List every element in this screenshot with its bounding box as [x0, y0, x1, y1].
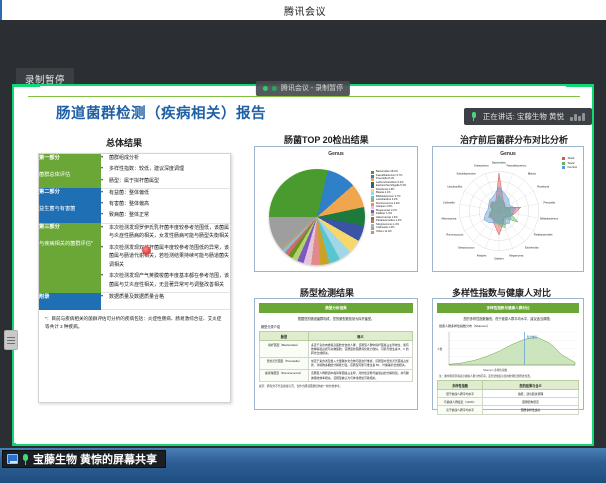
- shared-slide: 肠道菌群检测（疾病相关）报告 总体结果 肠菌TOP 20检出结果 治疗前后菌群分…: [16, 88, 592, 444]
- radar-axis-label: Eubacterium: [474, 164, 489, 167]
- y-axis-label: 人数: [437, 347, 442, 351]
- pie-chart-title: Genus: [255, 151, 417, 157]
- page-title: 肠道菌群检测（疾病相关）报告: [56, 102, 266, 123]
- frame-corner-top-left: [14, 84, 40, 87]
- column-header: 多样性指数: [438, 381, 483, 390]
- enterotype-note: 根据您的肠道菌群构成，您的肠型被检测为拟杆菌型。: [259, 313, 413, 324]
- radar-axis-label: Subdoligranulum: [456, 173, 475, 176]
- list-item: 本次检测发现双歧杆菌属丰度较参考范围低的异常，该菌属与肠道代谢相关，若检测结果持…: [101, 244, 230, 270]
- table-row: 高于健康人群平均水平菌群多样性良好: [438, 406, 579, 414]
- cell-enterotype: 普雷沃氏菌型（Prevotella）: [260, 357, 309, 369]
- radar-axis-label: Dialister: [494, 258, 503, 261]
- summary-bullets-cell: 有益菌：整体偏低有害菌：整体偏高致病菌：整体正常: [101, 188, 230, 223]
- active-speaker-label: 正在讲话: 宝藤生物 黄悦: [483, 111, 564, 122]
- list-item: 有益菌：整体偏低: [101, 189, 230, 198]
- list-item: 本次检测发现罗伊氏乳杆菌丰度较参考范围低，该菌属与炎症性肠病的相关，女发性肠病可…: [101, 224, 230, 242]
- cell-index: 高于健康人群平均水平: [438, 406, 483, 414]
- status-dot-icon: [263, 86, 268, 91]
- summary-section-cell: 第一部分菌群总体评估: [39, 154, 101, 188]
- cell-description: 该肠型人群肠道中瘤胃球菌属占主导，对抗性淀粉与黏蛋白的分解较强，并与糖类吸收效率…: [308, 369, 412, 381]
- summary-table: 第一部分菌群总体评估菌群组成分析多样性指数：较低，建议深度调理肠型：属于拟杆菌属…: [39, 154, 230, 310]
- diversity-note: 您的多样性指数偏低，低于健康人群平均水平，建议适当调理。: [437, 313, 579, 324]
- list-item: 本次检测发现产气荚膜梭菌丰度基本都在参考范围，该菌属与艾炎症性相关，无显著异常可…: [101, 272, 230, 290]
- legend-swatch: [371, 231, 374, 234]
- list-item: 致病菌：整体正常: [101, 211, 230, 220]
- section-number: 第二部分: [39, 188, 101, 198]
- section-number: 第一部分: [39, 154, 101, 164]
- summary-section-cell: 第二部分益生菌与有害菌: [39, 188, 101, 223]
- summary-footnote: *：目前与疾病相关的菌群评估可分析的疾病包括：炎症性肠病、肠易激综合征、艾炎症等…: [39, 310, 230, 337]
- taskbar-app-button[interactable]: 宝藤生物 黄悰的屏幕共享: [2, 450, 166, 468]
- audio-wave-icon: [570, 113, 585, 121]
- sharing-status-text: 腾讯会议 - 录制暂停: [281, 83, 343, 93]
- pie-chart-card: Genus Bacteroides 28.4%Faecalibacterium …: [254, 146, 418, 272]
- radar-axis-label: Faecalibacterium: [507, 164, 527, 167]
- radar-axis-label: Parabacteroides: [534, 234, 553, 237]
- cell-enterotype: 瘤胃球菌型（Ruminococcus）: [260, 369, 309, 381]
- summary-bullets-cell: 数据质量及数据质量合格: [101, 293, 230, 310]
- table-row: 普雷沃氏菌型（Prevotella）常见于素食者及摄入大量碳水化合物与膳食纤维者…: [260, 357, 413, 369]
- marker-label: 您的数值: [527, 335, 537, 339]
- radar-axis-label: Lactobacillus: [447, 186, 462, 189]
- enterotype-table-title: 肠型分类介绍: [259, 324, 413, 331]
- diversity-header: 多样性指数与健康人群对比: [437, 303, 579, 313]
- radar-axis-label: Bacteroides: [492, 162, 506, 165]
- list-item: 肠型：属于拟杆菌属型: [101, 177, 230, 186]
- taskbar-app-label: 宝藤生物 黄悰的屏幕共享: [33, 451, 157, 467]
- window-titlebar: 腾讯会议: [0, 0, 606, 20]
- summary-bullets-cell: 本次检测发现罗伊氏乳杆菌丰度较参考范围低，该菌属与炎症性肠病的相关，女发性肠病可…: [101, 223, 230, 293]
- screen-share-frame: 肠道菌群检测（疾病相关）报告 总体结果 肠菌TOP 20检出结果 治疗前后菌群分…: [12, 84, 594, 446]
- radar-axis-label: Blautia: [528, 173, 536, 176]
- cell-description: 常见于素食者及摄入大量碳水化合物与膳食纤维者，该肠型中普雷沃氏菌属占优势，对植物…: [308, 357, 412, 369]
- frame-corner-top-right: [566, 84, 592, 87]
- cell-index: 与健康人群接近（±10%）: [438, 398, 483, 406]
- table-row: 瘤胃球菌型（Ruminococcus）该肠型人群肠道中瘤胃球菌属占主导，对抗性淀…: [260, 369, 413, 381]
- microphone-icon: [471, 112, 477, 121]
- radar-axis-label: Roseburia: [537, 186, 549, 189]
- section-number: 第三部分: [39, 223, 101, 233]
- table-row: 附录数据质量及数据质量合格: [39, 293, 230, 310]
- enterotype-footer: 提示：肠型并不代表健康与否，仅作为肠道菌群结构的一种分类参考。: [259, 382, 413, 388]
- enterotype-header: 肠型分析结果: [259, 303, 413, 313]
- legend-label: Others 11.0%: [376, 231, 392, 234]
- table-row: 第三部分与疾病相关的菌群评估*本次检测发现罗伊氏乳杆菌丰度较参考范围低，该菌属与…: [39, 223, 230, 293]
- window-drag-handle[interactable]: [4, 330, 18, 350]
- summary-table-card: 第一部分菌群总体评估菌群组成分析多样性指数：较低，建议深度调理肠型：属于拟杆菌属…: [38, 153, 231, 403]
- enterotype-card: 肠型分析结果 根据您的肠道菌群构成，您的肠型被检测为拟杆菌型。 肠型分类介绍 肠…: [254, 298, 418, 410]
- radar-axis-label: Alistipes: [477, 255, 487, 258]
- diversity-card: 多样性指数与健康人群对比 您的多样性指数偏低，低于健康人群平均水平，建议适当调理…: [432, 298, 584, 410]
- column-header: 您的结果与含义: [483, 381, 579, 390]
- radar-axis-label: Megamonas: [509, 255, 523, 258]
- taskbar: 宝藤生物 黄悰的屏幕共享: [0, 448, 606, 483]
- pie-chart: [269, 169, 365, 265]
- caption-overall: 总体结果: [106, 136, 142, 149]
- cell-meaning: 菌群结构稳定: [483, 398, 579, 406]
- status-dot-secondary-icon: [272, 86, 277, 91]
- screen-share-icon: [7, 454, 18, 464]
- cell-index: 低于健康人群平均水平: [438, 390, 483, 398]
- list-item: 多样性指数：较低，建议深度调理: [101, 165, 230, 174]
- cell-meaning: 偏低，建议膳食调理: [483, 390, 579, 398]
- table-row: 第一部分菌群总体评估菌群组成分析多样性指数：较低，建议深度调理肠型：属于拟杆菌属…: [39, 154, 230, 188]
- cell-enterotype: 拟杆菌型（Bacteroides）: [260, 341, 309, 358]
- radar-axis-label: Collinsella: [443, 201, 455, 204]
- radar-chart: BacteroidesFaecalibacteriumBlautiaRosebu…: [433, 155, 585, 271]
- diversity-footnote: 注：图中阴影区域表示健康人群分布区间，蓝色竖线表示您的检测结果所处位置。: [437, 373, 579, 380]
- diversity-distribution-chart: 您的数值Shannon 多样性指数人数: [437, 329, 579, 373]
- column-header: 释义: [308, 332, 412, 341]
- radar-chart-card: Genus Test1Test2Control BacteroidesFaeca…: [432, 146, 584, 272]
- mouse-cursor-highlight: [142, 246, 151, 255]
- cell-description: 多见于喜食肉类和高脂肪饮食的人群，该肠型人群中拟杆菌属占主导地位，能有效降解蛋白…: [308, 341, 412, 358]
- pie-legend: Bacteroides 28.4%Faecalibacterium 9.7%Pr…: [371, 171, 406, 234]
- diversity-table: 多样性指数您的结果与含义 低于健康人群平均水平偏低，建议膳食调理与健康人群接近（…: [437, 380, 579, 415]
- legend-item: Others 11.0%: [371, 231, 406, 234]
- section-number: 附录: [39, 293, 101, 303]
- window-title: 腾讯会议: [2, 3, 606, 18]
- enterotype-table: 肠型释义 拟杆菌型（Bacteroides）多见于喜食肉类和高脂肪饮食的人群，该…: [259, 331, 413, 382]
- radar-axis-label: Bifidobacterium: [540, 218, 558, 221]
- list-item: 数据质量及数据质量合格: [101, 293, 230, 302]
- table-row: 与健康人群接近（±10%）菌群结构稳定: [438, 398, 579, 406]
- x-axis-label: Shannon 多样性指数: [483, 368, 507, 372]
- caption-top20: 肠菌TOP 20检出结果: [284, 133, 369, 146]
- column-header: 肠型: [260, 332, 309, 341]
- screen: 腾讯会议 录制暂停 腾讯会议 - 录制暂停 正在讲话: 宝藤生物 黄悦 肠道菌群…: [0, 0, 606, 483]
- title-divider: [28, 96, 580, 97]
- summary-section-cell: 附录: [39, 293, 101, 310]
- table-row: 第二部分益生菌与有害菌有益菌：整体偏低有害菌：整体偏高致病菌：整体正常: [39, 188, 230, 223]
- list-item: 有害菌：整体偏高: [101, 200, 230, 209]
- distribution-svg: [437, 329, 579, 373]
- radar-axis-label: Akkermansia: [441, 218, 456, 221]
- radar-axis-label: Streptococcus: [458, 246, 474, 249]
- radar-axis-label: Prevotella: [543, 201, 555, 204]
- table-row: 拟杆菌型（Bacteroides）多见于喜食肉类和高脂肪饮食的人群，该肠型人群中…: [260, 341, 413, 358]
- caption-compare: 治疗前后菌群分布对比分析: [460, 133, 568, 146]
- section-name: 益生菌与有害菌: [39, 205, 101, 215]
- summary-bullets-cell: 菌群组成分析多样性指数：较低，建议深度调理肠型：属于拟杆菌属型: [101, 154, 230, 188]
- sharing-status-badge: 腾讯会议 - 录制暂停: [256, 81, 350, 96]
- list-item: 菌群组成分析: [101, 154, 230, 163]
- active-speaker-badge: 正在讲话: 宝藤生物 黄悦: [464, 108, 592, 125]
- microphone-icon: [22, 454, 29, 465]
- cell-meaning: 菌群多样性良好: [483, 406, 579, 414]
- radar-axis-label: Escherichia: [525, 246, 538, 249]
- radar-axis-label: Ruminococcus: [446, 234, 463, 237]
- section-name: 与疾病相关的菌群评估*: [39, 240, 101, 250]
- table-row: 低于健康人群平均水平偏低，建议膳食调理: [438, 390, 579, 398]
- section-name: 菌群总体评估: [39, 171, 101, 181]
- distribution-area: [449, 337, 575, 365]
- summary-section-cell: 第三部分与疾病相关的菌群评估*: [39, 223, 101, 293]
